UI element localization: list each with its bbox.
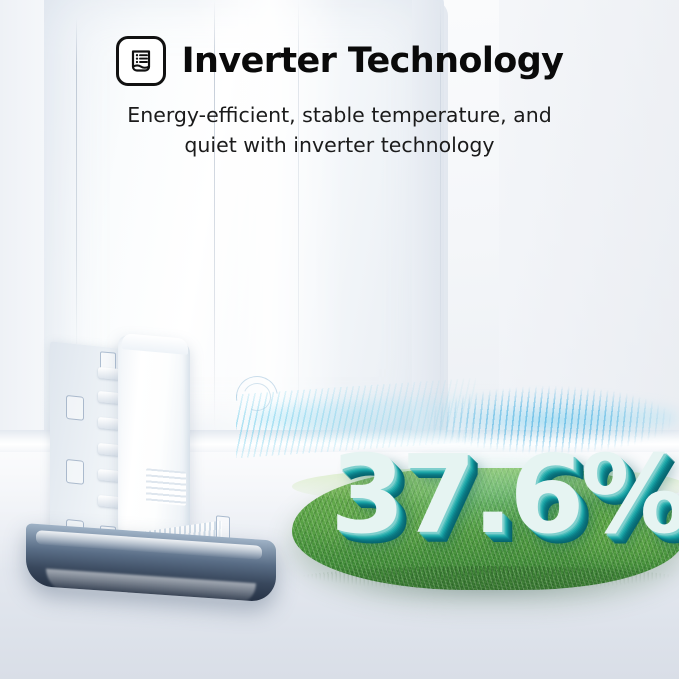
header-block: Inverter Technology Energy-efficient, st…	[0, 0, 679, 160]
panel-slot	[66, 459, 84, 485]
grass-front-edge	[288, 566, 679, 596]
subtitle: Energy-efficient, stable temperature, an…	[0, 100, 679, 160]
title-row: Inverter Technology	[0, 36, 679, 86]
document-list-icon	[116, 36, 166, 86]
subtitle-line-1: Energy-efficient, stable temperature, an…	[0, 100, 679, 130]
ac-internal-assembly	[26, 330, 276, 580]
housing-tab	[98, 391, 120, 404]
compressor-housing	[118, 335, 190, 541]
panel-slot	[66, 395, 84, 421]
percentage-value: 37.6%	[330, 436, 670, 556]
housing-tab	[98, 495, 120, 508]
housing-tab	[98, 443, 120, 456]
housing-tab	[98, 469, 120, 482]
subtitle-line-2: quiet with inverter technology	[0, 130, 679, 160]
housing-tab	[98, 367, 120, 380]
product-feature-banner: 37.6% Inverter Technology Energy-efficie…	[0, 0, 679, 679]
page-title: Inverter Technology	[182, 41, 564, 81]
housing-tab	[98, 417, 120, 430]
percentage-figure: 37.6%	[330, 436, 670, 566]
housing-vent-grill	[146, 468, 186, 505]
